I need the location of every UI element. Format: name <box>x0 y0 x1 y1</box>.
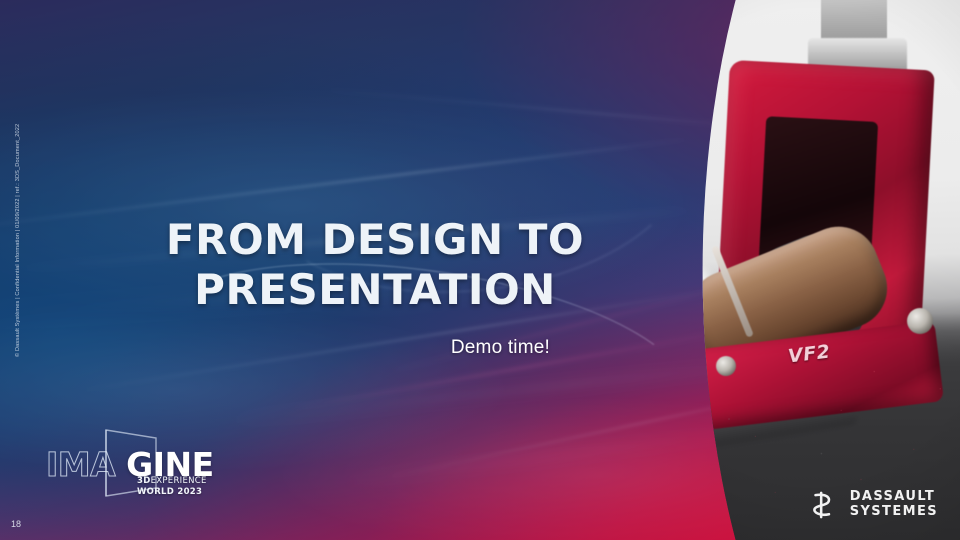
sub-prefix-3d: 3D <box>137 476 151 486</box>
imagine-sublabel: 3DEXPERIENCE WORLD 2023 <box>137 476 207 497</box>
page-title: FROM DESIGN TO PRESENTATION <box>150 215 600 314</box>
copyright-notice: © Dassault Systèmes | Confidential Infor… <box>15 157 21 357</box>
imagine-sublabel-line-2: WORLD 2023 <box>137 487 207 498</box>
dassault-systemes-wordmark: DASSAULT SYSTEMES <box>850 490 938 519</box>
brand-line-1: DASSAULT <box>850 490 938 505</box>
imagine-sublabel-line-1: 3DEXPERIENCE <box>137 476 207 487</box>
imagine-event-logo: IMA GINE 3DEXPERIENCE WORLD 2023 <box>42 424 222 504</box>
page-number: 18 <box>11 519 21 529</box>
brand-line-2: SYSTEMES <box>850 505 938 520</box>
imagine-word-outline: IMA <box>46 448 115 481</box>
title-line-2: PRESENTATION <box>150 265 600 315</box>
3ds-compass-icon <box>807 488 841 522</box>
dassault-systemes-logo: DASSAULT SYSTEMES <box>807 488 938 522</box>
title-line-1: FROM DESIGN TO <box>150 215 600 265</box>
sub-suffix-experience: EXPERIENCE <box>151 476 207 486</box>
slide-subtitle: Demo time! <box>150 337 550 359</box>
presentation-slide: VF2 DASSAULT SYSTEMES © Dassault Système… <box>0 0 960 540</box>
